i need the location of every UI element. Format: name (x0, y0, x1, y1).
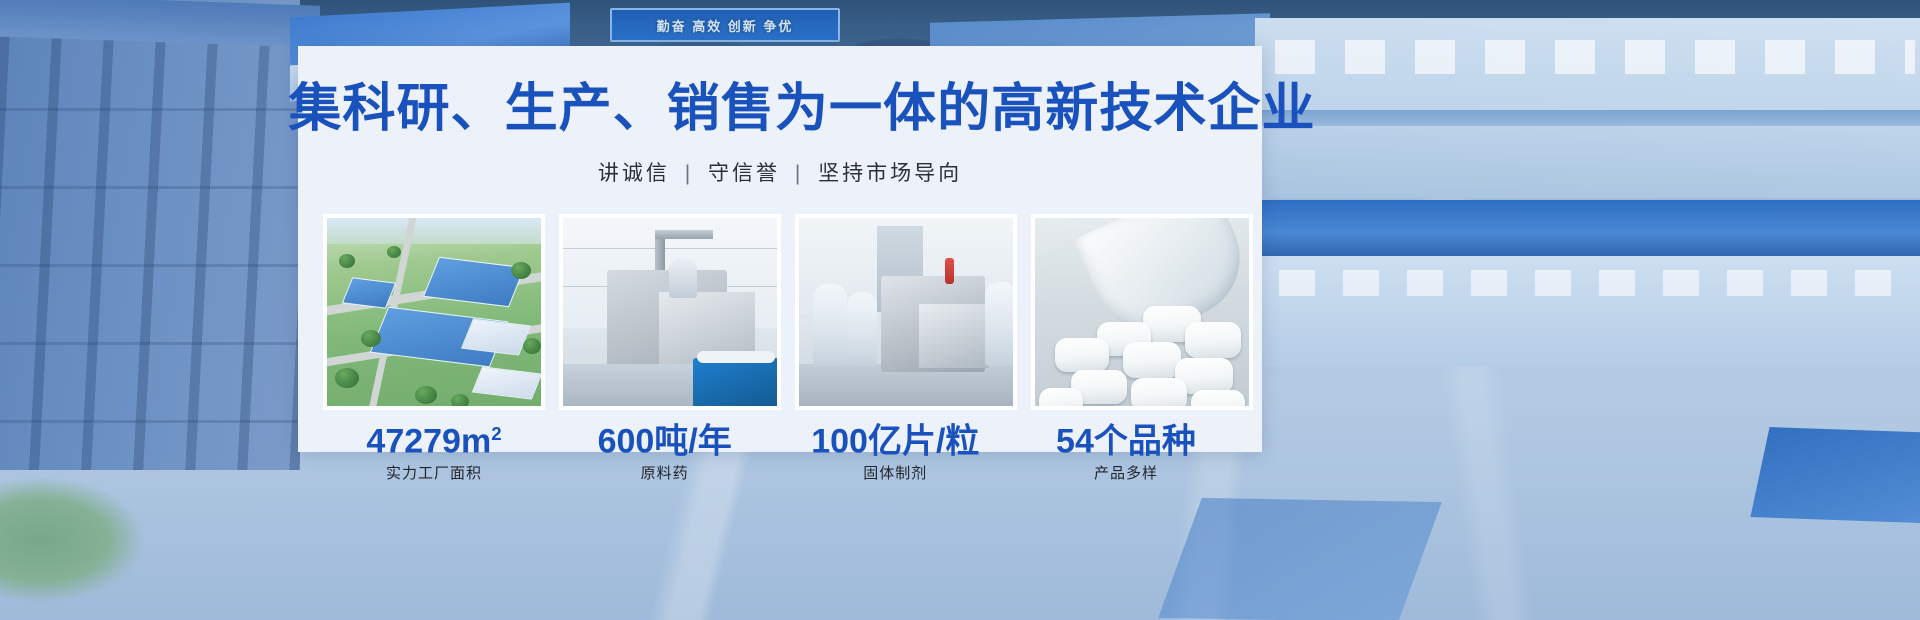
left-foliage (0, 420, 190, 620)
right-workshop-lower (1255, 256, 1920, 366)
photo4-tablet (1131, 378, 1187, 410)
right-workshop-upper (1255, 18, 1920, 198)
rooftop-slogan-sign: 勤奋 高效 创新 争优 (610, 8, 840, 42)
subtitle-separator-1: | (685, 162, 693, 185)
photo1-tree (361, 330, 381, 347)
subtitle: 讲诚信 | 守信誉 | 坚持市场导向 (298, 157, 1262, 187)
photo3-worker (985, 282, 1017, 366)
foreground-blue-panel (1750, 427, 1920, 523)
photo3-machine-panel (919, 304, 989, 368)
photo4-tablet (1055, 338, 1109, 372)
stat-number-value: 600吨/年 (598, 422, 732, 460)
photo1-tree (335, 368, 359, 388)
stat-label: 实力工厂面积 (323, 462, 545, 483)
photo3-worker (813, 284, 847, 366)
stat-item: 600吨/年 原料药 (554, 424, 776, 483)
photo1-tree (523, 338, 541, 354)
right-workshop-blue-band (1255, 200, 1920, 260)
stat-number-superscript: 2 (491, 423, 501, 444)
photo1-tree (339, 254, 355, 268)
photo-gallery (323, 214, 1237, 410)
stat-number: 100亿片/粒 (784, 424, 1006, 460)
left-building-roof (0, 0, 320, 48)
stat-label: 原料药 (554, 462, 776, 483)
photo-factory-aerial[interactable] (323, 214, 545, 410)
photo4-tablet (1191, 390, 1245, 410)
stat-number-value: 54个品种 (1056, 422, 1196, 460)
rooftop-slogan-text: 勤奋 高效 创新 争优 (657, 16, 794, 35)
stat-item: 100亿片/粒 固体制剂 (784, 424, 1006, 483)
hero-content-card: 集科研、生产、销售为一体的高新技术企业 讲诚信 | 守信誉 | 坚持市场导向 (298, 46, 1262, 452)
foreground-blue-panel-2 (1158, 498, 1442, 620)
photo4-tablet (1039, 388, 1083, 410)
photo-tablets-jar[interactable] (1031, 214, 1253, 410)
stat-number: 54个品种 (1015, 424, 1237, 460)
subtitle-part-1: 讲诚信 (598, 162, 670, 185)
stat-item: 54个品种 产品多样 (1015, 424, 1237, 483)
photo2-worker (669, 258, 697, 298)
photo2-machine-arm-top (655, 230, 713, 239)
photo1-building-1 (423, 257, 525, 308)
photo2-wall-seam (563, 248, 777, 249)
stat-number: 47279m2 (323, 424, 545, 460)
stat-label: 固体制剂 (784, 462, 1006, 483)
stats-row: 47279m2 实力工厂面积 600吨/年 原料药 100亿片/粒 固体制剂 5… (323, 424, 1237, 483)
photo3-status-lamp (945, 258, 954, 284)
left-office-building (0, 0, 300, 470)
stat-number-value: 47279m (366, 422, 491, 460)
photo1-tree (415, 386, 437, 404)
photo1-tree (511, 262, 531, 279)
photo1-tree (451, 394, 469, 409)
photo1-tree (387, 246, 401, 258)
photo4-tablet (1185, 322, 1241, 358)
photo1-sky (327, 218, 541, 244)
stat-label: 产品多样 (1015, 462, 1237, 483)
photo2-blue-crate (693, 358, 779, 410)
subtitle-part-2: 守信誉 (708, 162, 780, 185)
photo-packaging-line[interactable] (559, 214, 781, 410)
photo4-tablet (1123, 342, 1181, 378)
stat-item: 47279m2 实力工厂面积 (323, 424, 545, 483)
stat-number: 600吨/年 (554, 424, 776, 460)
photo1-building-5 (472, 366, 543, 399)
photo-workers-machine[interactable] (795, 214, 1017, 410)
stat-number-value: 100亿片/粒 (811, 422, 979, 460)
subtitle-part-3: 坚持市场导向 (818, 162, 962, 185)
subtitle-separator-2: | (795, 162, 803, 185)
photo3-worker (847, 292, 877, 366)
page-title: 集科研、生产、销售为一体的高新技术企业 (288, 83, 1271, 135)
